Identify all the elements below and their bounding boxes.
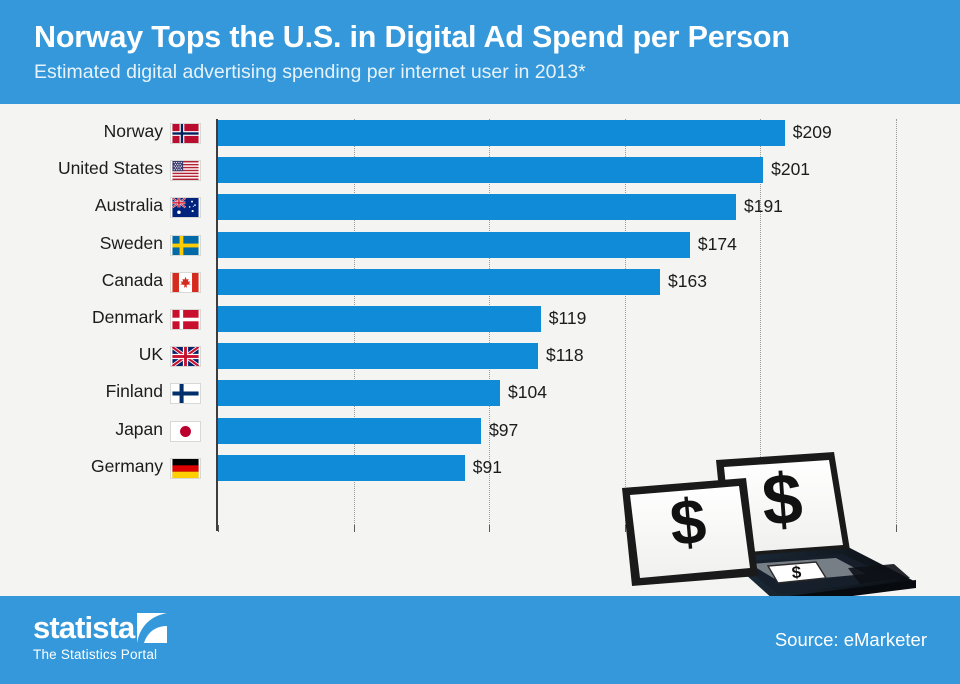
bar-finland[interactable] <box>218 380 500 406</box>
bar-value-label: $163 <box>668 271 707 292</box>
bar-value-label: $104 <box>508 382 547 403</box>
bar-denmark[interactable] <box>218 306 541 332</box>
category-label-denmark: Denmark <box>0 307 163 328</box>
bar-value-label: $119 <box>549 308 587 329</box>
category-label-canada: Canada <box>0 270 163 291</box>
sweden-flag-icon <box>170 235 201 256</box>
bar-value-label: $191 <box>744 196 783 217</box>
norway-flag-icon <box>170 123 201 144</box>
x-axis-tick <box>625 525 626 532</box>
footer-banner: statista The Statistics Portal Source: e… <box>0 596 960 684</box>
header-banner: Norway Tops the U.S. in Digital Ad Spend… <box>0 0 960 104</box>
category-label-japan: Japan <box>0 419 163 440</box>
category-label-sweden: Sweden <box>0 233 163 254</box>
statista-logo[interactable]: statista The Statistics Portal <box>33 612 167 662</box>
chart-row: Sweden$174 <box>0 228 960 265</box>
statista-infographic: Norway Tops the U.S. in Digital Ad Spend… <box>0 0 960 684</box>
japan-flag-icon <box>170 421 201 442</box>
bar-japan[interactable] <box>218 418 481 444</box>
bar-chart-plot: $0$50$100$150$200$250Norway$209United St… <box>0 104 960 596</box>
logo-tagline: The Statistics Portal <box>33 647 167 662</box>
x-axis-tick <box>760 525 761 532</box>
uk-flag-icon <box>170 346 201 367</box>
bar-australia[interactable] <box>218 194 736 220</box>
bar-canada[interactable] <box>218 269 660 295</box>
chart-row: Finland$104 <box>0 376 960 413</box>
x-axis-tick <box>896 525 897 532</box>
chart-row: Germany$91 <box>0 451 960 488</box>
category-label-germany: Germany <box>0 456 163 477</box>
bar-uk[interactable] <box>218 343 538 369</box>
chart-row: Canada$163 <box>0 265 960 302</box>
bar-value-label: $201 <box>771 159 810 180</box>
bar-value-label: $209 <box>793 122 832 143</box>
chart-row: Norway$209 <box>0 116 960 153</box>
australia-flag-icon <box>170 197 201 218</box>
chart-area: $0$50$100$150$200$250Norway$209United St… <box>0 104 960 596</box>
bar-united-states[interactable] <box>218 157 763 183</box>
source-credit: Source: eMarketer <box>775 629 927 651</box>
page-title: Norway Tops the U.S. in Digital Ad Spend… <box>34 18 960 56</box>
bar-norway[interactable] <box>218 120 785 146</box>
finland-flag-icon <box>170 383 201 404</box>
bar-value-label: $174 <box>698 234 737 255</box>
bar-value-label: $97 <box>489 420 518 441</box>
x-axis-tick <box>489 525 490 532</box>
chart-row: United States$201 <box>0 153 960 190</box>
category-label-norway: Norway <box>0 121 163 142</box>
category-label-united-states: United States <box>0 158 163 179</box>
x-axis-tick <box>354 525 355 532</box>
chart-row: Japan$97 <box>0 414 960 451</box>
bar-value-label: $118 <box>546 345 584 366</box>
x-axis-tick <box>218 525 219 532</box>
page-subtitle: Estimated digital advertising spending p… <box>34 58 960 86</box>
chart-row: Australia$191 <box>0 190 960 227</box>
bar-germany[interactable] <box>218 455 465 481</box>
canada-flag-icon <box>170 272 201 293</box>
statista-logo-mark-icon <box>137 613 167 643</box>
chart-row: Denmark$119 <box>0 302 960 339</box>
bar-sweden[interactable] <box>218 232 690 258</box>
category-label-australia: Australia <box>0 195 163 216</box>
united-states-flag-icon <box>170 160 201 181</box>
logo-wordmark: statista <box>33 612 134 643</box>
chart-row: UK$118 <box>0 339 960 376</box>
germany-flag-icon <box>170 458 201 479</box>
category-label-finland: Finland <box>0 381 163 402</box>
bar-value-label: $91 <box>473 457 502 478</box>
category-label-uk: UK <box>0 344 163 365</box>
denmark-flag-icon <box>170 309 201 330</box>
